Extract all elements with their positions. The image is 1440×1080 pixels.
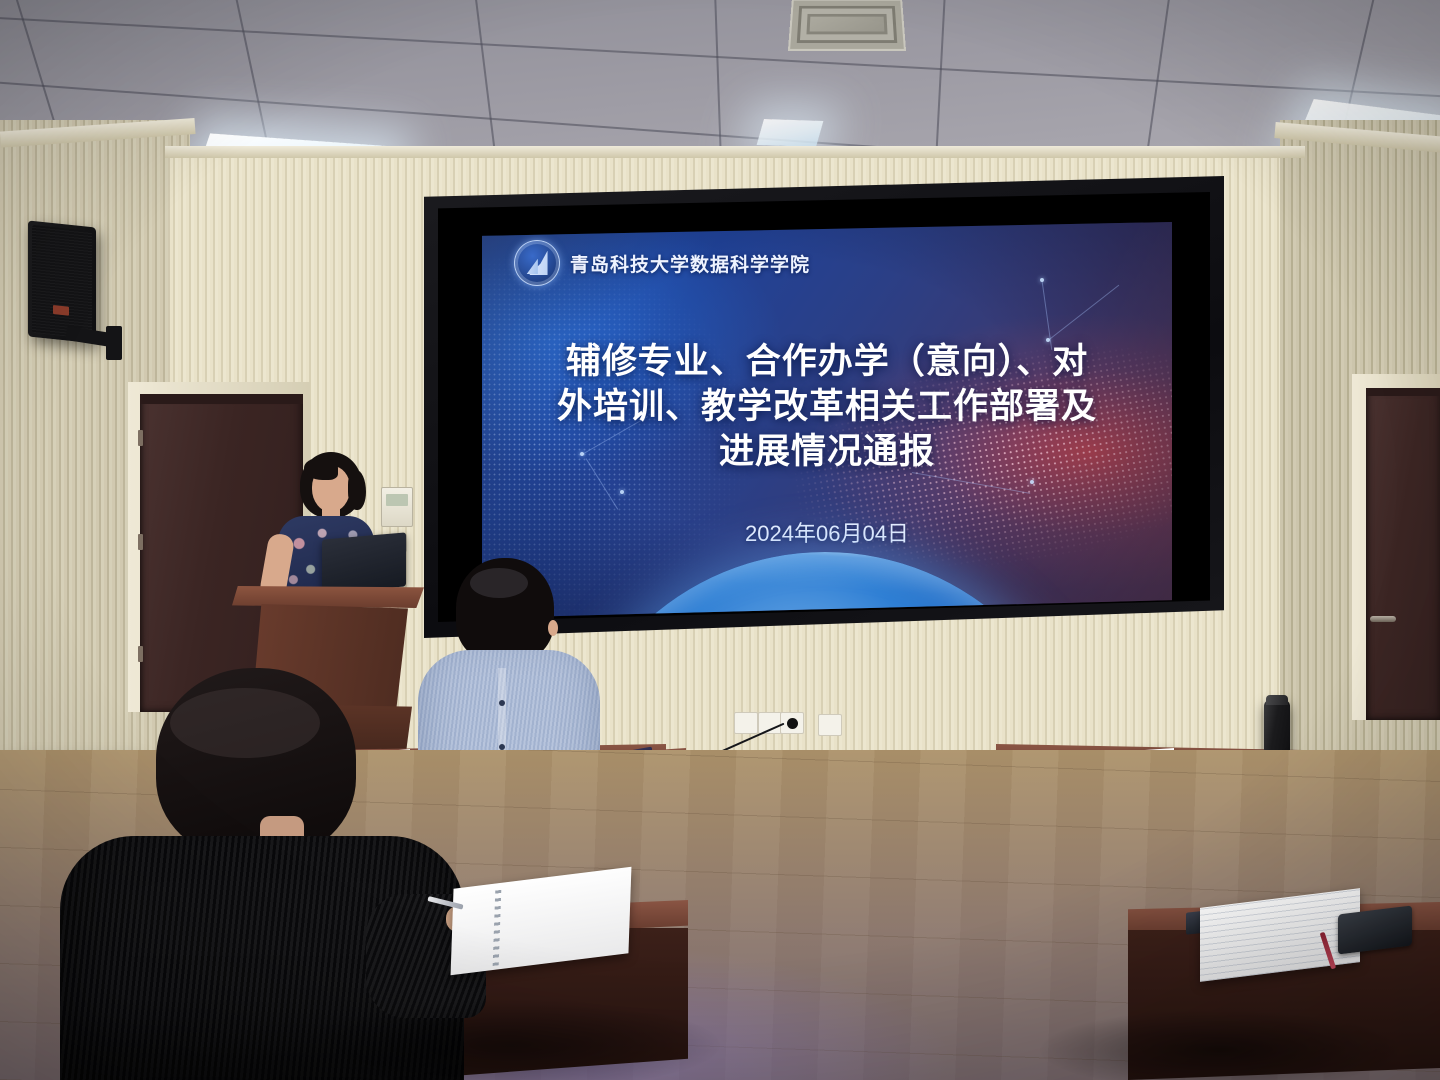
- speaker-mount-bracket: [106, 326, 122, 360]
- wall-outlet-plate[interactable]: [818, 714, 842, 736]
- presenter-hair-side: [348, 470, 366, 510]
- slide-title-line-1: 辅修专业、合作办学（意向）、对: [506, 340, 1148, 383]
- thermos-cap[interactable]: [1266, 695, 1288, 705]
- door-right[interactable]: [1366, 388, 1440, 720]
- slide-network-node: [1030, 480, 1034, 484]
- ceiling-light-panel-center: [757, 119, 824, 147]
- attendee-middle-ear: [548, 620, 558, 636]
- notebook-spiral-binding: [493, 887, 502, 966]
- slide-network-node: [620, 490, 624, 494]
- door-hinge: [138, 430, 143, 446]
- presenter-laptop[interactable]: [322, 532, 406, 593]
- door-hinge: [138, 534, 143, 550]
- slide-network-node: [1040, 278, 1044, 282]
- ceiling-trim-back: [165, 146, 1305, 158]
- attendee-middle-button: [499, 700, 505, 706]
- wall-outlet-plate[interactable]: [734, 712, 758, 734]
- av-port[interactable]: [787, 718, 798, 729]
- door-hinge: [138, 646, 143, 662]
- hvac-diffuser-vent: [788, 0, 906, 51]
- wall-control-panel[interactable]: [381, 487, 413, 527]
- floor-shadow-right: [1040, 1010, 1400, 1080]
- qust-university-emblem-icon: [514, 240, 560, 286]
- emblem-sail-shape-small: [526, 259, 537, 275]
- door-left-top-rail: [140, 394, 303, 404]
- door-handle[interactable]: [1370, 616, 1396, 622]
- wall-speaker: [28, 220, 96, 343]
- podium-surface: [232, 586, 424, 608]
- presenter-hair-fringe: [304, 458, 338, 480]
- slide-organization-label: 青岛科技大学数据科学学院: [570, 250, 810, 277]
- attendee-front-hair-wave: [170, 688, 320, 758]
- speaker-badge: [53, 305, 69, 316]
- conference-room-photo: 青岛科技大学数据科学学院 辅修专业、合作办学（意向）、对 外培训、教学改革相关工…: [0, 0, 1440, 1080]
- slide-title-line-3: 进展情况通报: [506, 430, 1148, 473]
- slide-title-line-2: 外培训、教学改革相关工作部署及: [506, 385, 1148, 428]
- attendee-middle-hair-shine: [470, 568, 528, 598]
- attendee-middle-button: [499, 744, 505, 750]
- slide-date-label: 2024年06月04日: [482, 516, 1172, 548]
- floor-shadow: [300, 1000, 720, 1080]
- panel-display: [386, 494, 408, 506]
- door-right-top-rail: [1366, 388, 1440, 396]
- speaker-grill: [32, 225, 92, 339]
